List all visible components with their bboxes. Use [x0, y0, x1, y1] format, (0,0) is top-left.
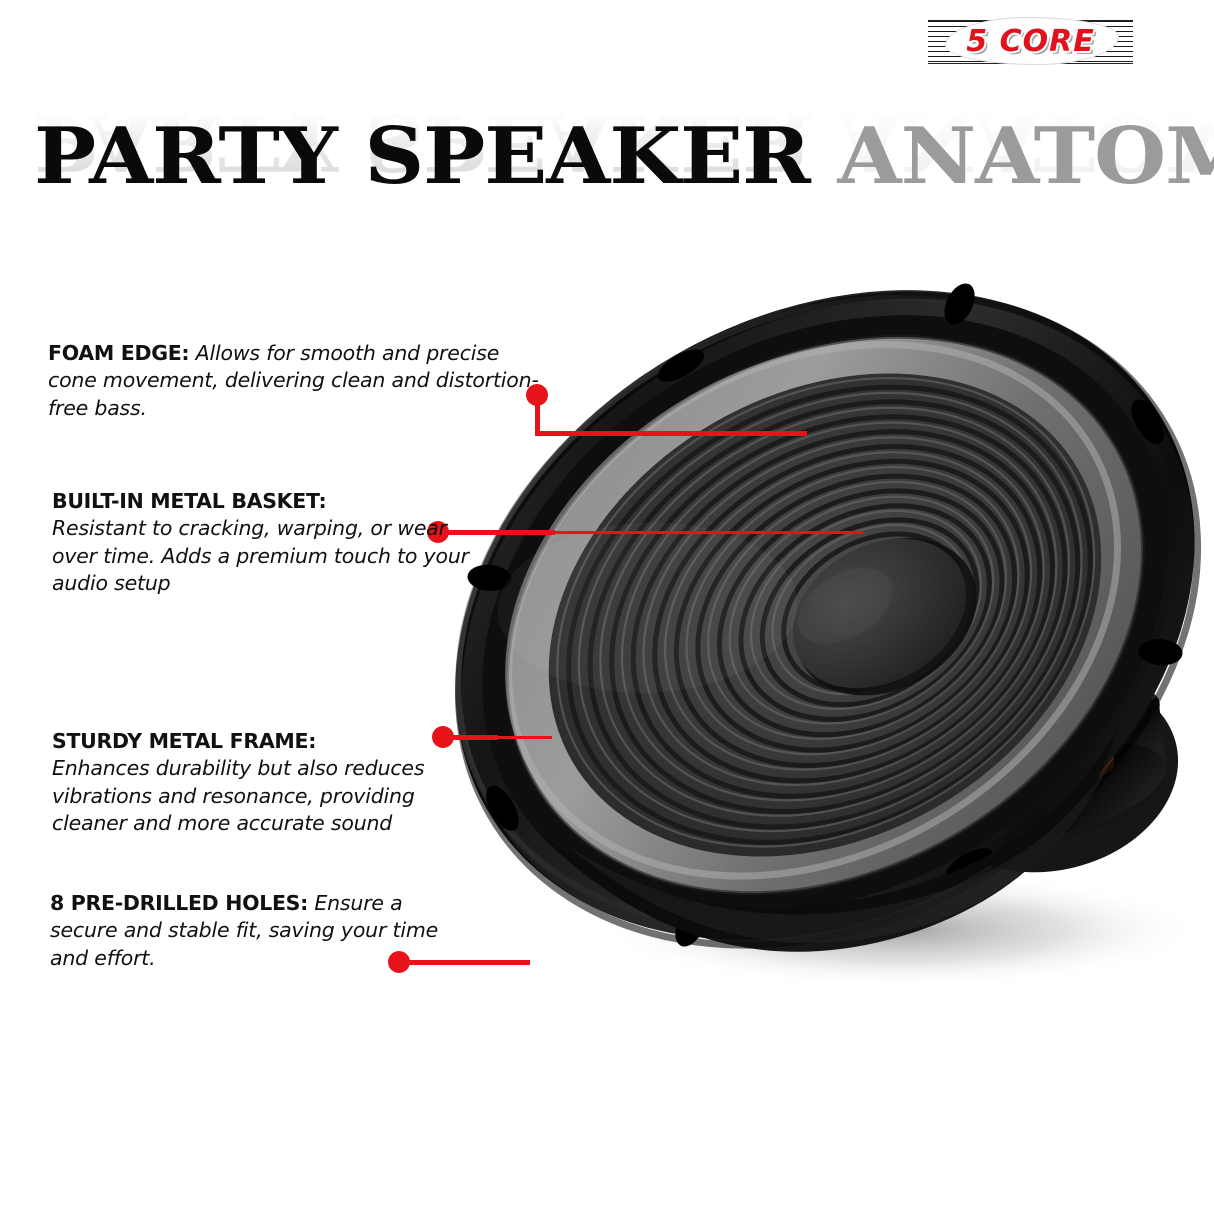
connector-line-foam-edge [535, 431, 807, 436]
callout-metal-frame: STURDY METAL FRAME: Enhances durability … [52, 728, 472, 837]
page-title: PARTY SPEAKER ANATOMY [34, 118, 1214, 196]
infographic-page: 5 CORE PARTY SPEAKER ANATOMY PARTY SPEAK… [0, 0, 1214, 1214]
callout-foam-edge-heading: FOAM EDGE: [48, 341, 189, 365]
callout-metal-frame-heading: STURDY METAL FRAME: [52, 728, 472, 755]
logo-text: 5 CORE [928, 16, 1133, 66]
callout-pre-drilled-holes: 8 PRE-DRILLED HOLES: Ensure a secure and… [50, 890, 450, 972]
callout-pre-drilled-holes-heading: 8 PRE-DRILLED HOLES: [50, 891, 308, 915]
page-title-wrap: PARTY SPEAKER ANATOMY PARTY SPEAKER ANAT… [34, 118, 1184, 248]
title-part-dark: PARTY SPEAKER [34, 111, 810, 202]
callout-metal-basket-body: Resistant to cracking, warping, or wear … [52, 515, 482, 597]
callout-foam-edge: FOAM EDGE: Allows for smooth and precise… [48, 340, 548, 422]
callout-metal-frame-body: Enhances durability but also reduces vib… [52, 755, 472, 837]
connector-line-metal-frame-thin [496, 736, 552, 739]
connector-line-metal-basket-thin [553, 531, 863, 534]
brand-logo: 5 CORE [928, 16, 1133, 66]
callout-metal-basket-heading: BUILT-IN METAL BASKET: [52, 488, 482, 515]
title-part-gray: ANATOMY [810, 111, 1214, 202]
callout-metal-basket: BUILT-IN METAL BASKET: Resistant to crac… [52, 488, 482, 597]
